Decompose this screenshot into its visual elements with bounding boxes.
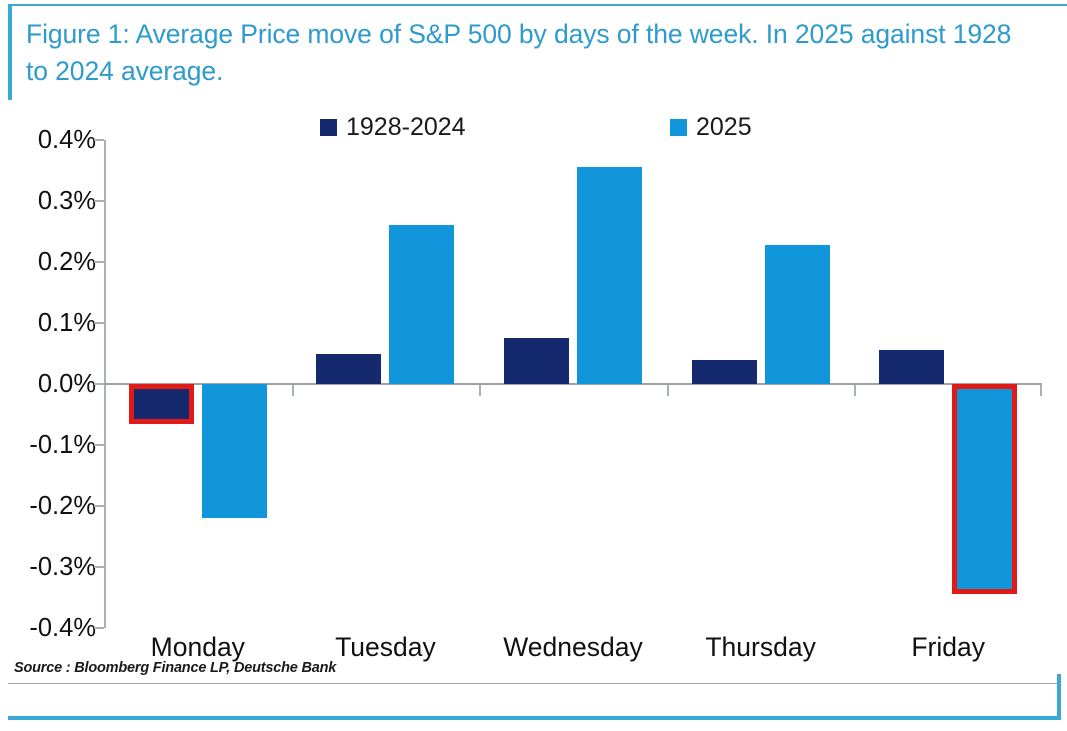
y-axis-labels: 0.4%0.3%0.2%0.1%0.0%-0.1%-0.2%-0.3%-0.4%	[0, 140, 96, 640]
source-note: Source : Bloomberg Finance LP, Deutsche …	[14, 660, 336, 676]
x-axis-category-label: Thursday	[705, 632, 815, 662]
y-axis-tick-label: -0.4%	[29, 615, 96, 641]
y-axis-tick-mark	[94, 139, 104, 141]
bar-friday-1928-2024	[879, 350, 944, 384]
bar-thursday-1928-2024	[692, 360, 757, 384]
y-axis-tick-label: 0.2%	[38, 249, 96, 275]
figure-title: Figure 1: Average Price move of S&P 500 …	[26, 16, 1026, 90]
y-axis-tick-mark	[94, 566, 104, 568]
legend-item-1928-2024[interactable]: 1928-2024	[320, 115, 466, 140]
bar-tuesday-1928-2024	[316, 354, 381, 385]
y-axis-tick-mark	[94, 200, 104, 202]
legend-swatch-icon	[670, 119, 687, 136]
legend-label: 1928-2024	[346, 115, 466, 140]
bar-wednesday-2025	[577, 167, 642, 384]
figure-container: Figure 1: Average Price move of S&P 500 …	[0, 0, 1067, 731]
y-axis-tick-mark	[94, 261, 104, 263]
y-axis-tick-label: 0.1%	[38, 310, 96, 336]
right-accent-bar	[1057, 674, 1061, 720]
bar-tuesday-2025	[389, 225, 454, 384]
y-axis-tick-mark	[94, 505, 104, 507]
bar-wednesday-1928-2024	[504, 338, 569, 384]
y-axis-tick-label: -0.1%	[29, 432, 96, 458]
x-axis-category-label: Monday	[151, 632, 245, 662]
title-left-accent-bar	[8, 4, 12, 100]
bar-thursday-2025	[765, 245, 830, 384]
bar-monday-2025	[202, 384, 267, 518]
top-divider-rule	[8, 4, 1067, 6]
source-divider-rule	[8, 683, 1061, 684]
bar-group-container	[104, 140, 1042, 628]
bottom-divider-rule	[8, 716, 1061, 720]
x-axis-category-label: Tuesday	[335, 632, 436, 662]
y-axis-tick-label: 0.3%	[38, 188, 96, 214]
legend-label: 2025	[696, 115, 752, 140]
y-axis-tick-label: 0.4%	[38, 127, 96, 153]
y-axis-tick-label: -0.3%	[29, 554, 96, 580]
y-axis-tick-label: -0.2%	[29, 493, 96, 519]
legend-swatch-icon	[320, 119, 337, 136]
bar-monday-1928-2024	[129, 384, 194, 424]
legend-item-2025[interactable]: 2025	[670, 115, 752, 140]
y-axis-tick-mark	[94, 383, 104, 385]
y-axis-tick-mark	[94, 444, 104, 446]
plot-area: 0.4%0.3%0.2%0.1%0.0%-0.1%-0.2%-0.3%-0.4%…	[0, 140, 1067, 680]
y-axis-tick-mark	[94, 322, 104, 324]
bar-friday-2025	[952, 384, 1017, 594]
y-axis-tick-mark	[94, 627, 104, 629]
x-axis-category-label: Friday	[911, 632, 985, 662]
y-axis-tick-label: 0.0%	[38, 371, 96, 397]
x-axis-category-label: Wednesday	[503, 632, 642, 662]
